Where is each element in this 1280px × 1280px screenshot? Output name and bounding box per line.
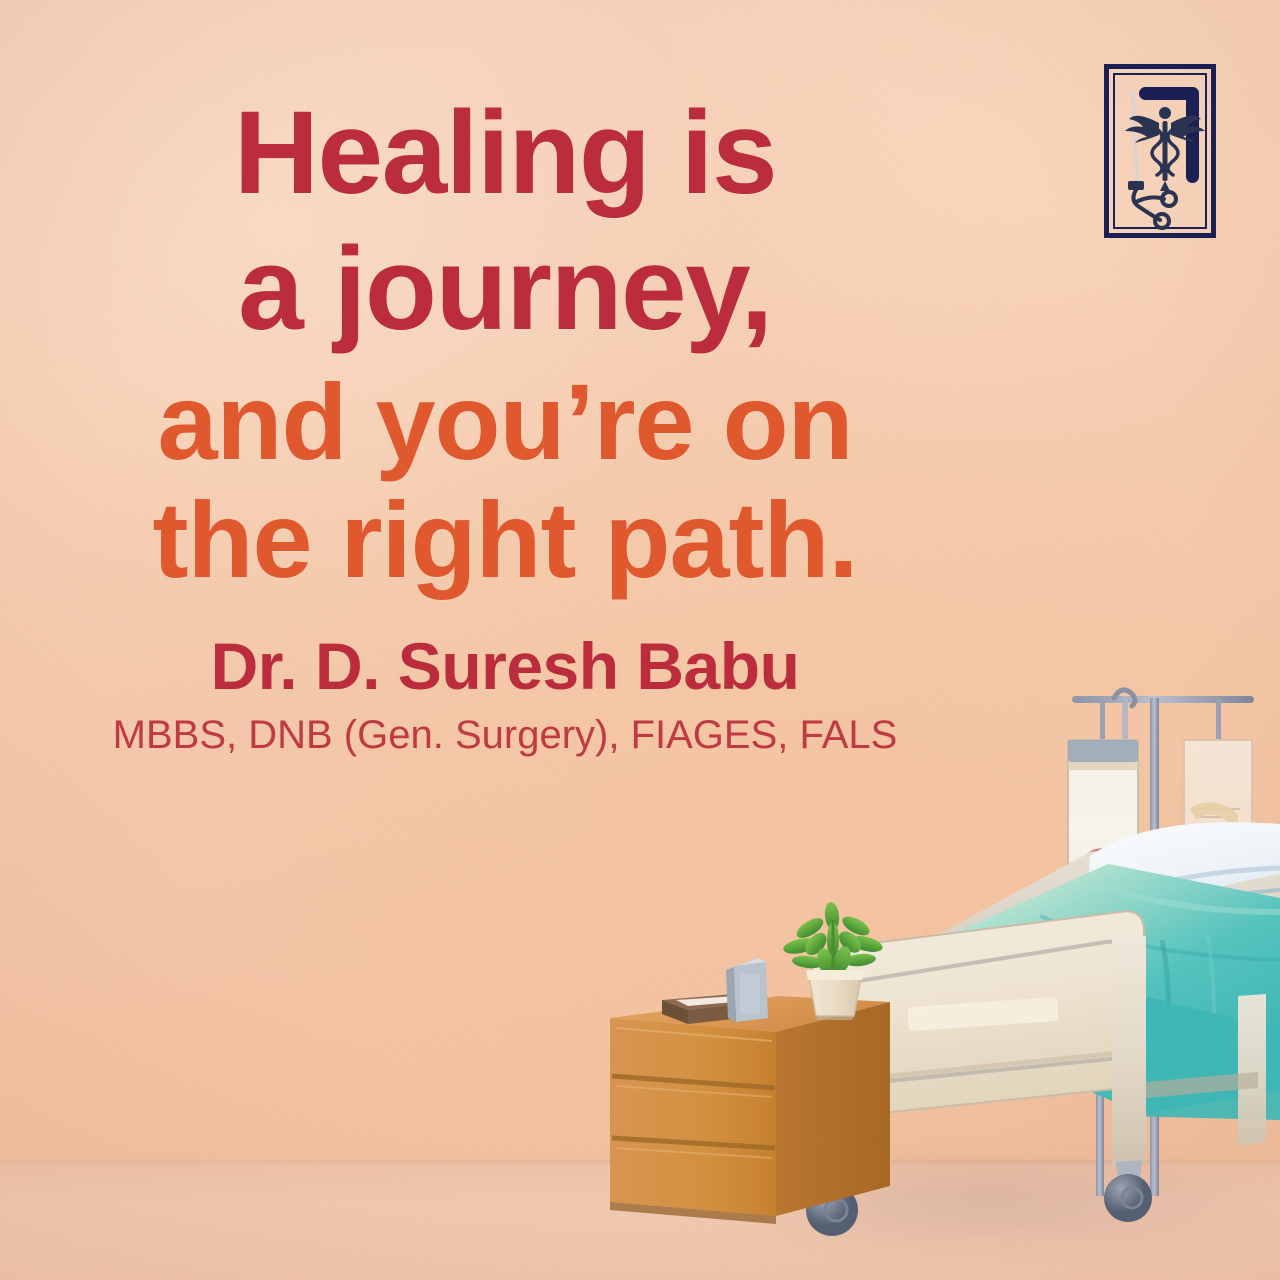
quote-line-2: a journey, (0, 232, 1010, 348)
doctor-name: Dr. D. Suresh Babu (0, 633, 1010, 699)
logo-graphic (1109, 69, 1221, 243)
bed-caster-wheel (1104, 1160, 1152, 1222)
potted-plant (770, 900, 900, 1020)
clinic-logo[interactable] (1104, 64, 1216, 238)
quote-line-1: Healing is (0, 96, 1010, 212)
potted-plant-svg (770, 900, 900, 1020)
laparoscopic-scissors-icon (1128, 181, 1176, 228)
doctor-credentials: MBBS, DNB (Gen. Surgery), FIAGES, FALS (0, 715, 1010, 755)
quote-block: Healing is a journey, and you’re on the … (0, 96, 1010, 755)
instrument-shaft (1133, 91, 1137, 181)
quote-line-3: and you’re on (0, 369, 1010, 475)
poster-canvas: Healing is a journey, and you’re on the … (0, 0, 1280, 1280)
nightstand-cup (726, 958, 768, 1022)
bed-rear-leg (1238, 994, 1266, 1146)
quote-line-4: the right path. (0, 487, 1010, 593)
